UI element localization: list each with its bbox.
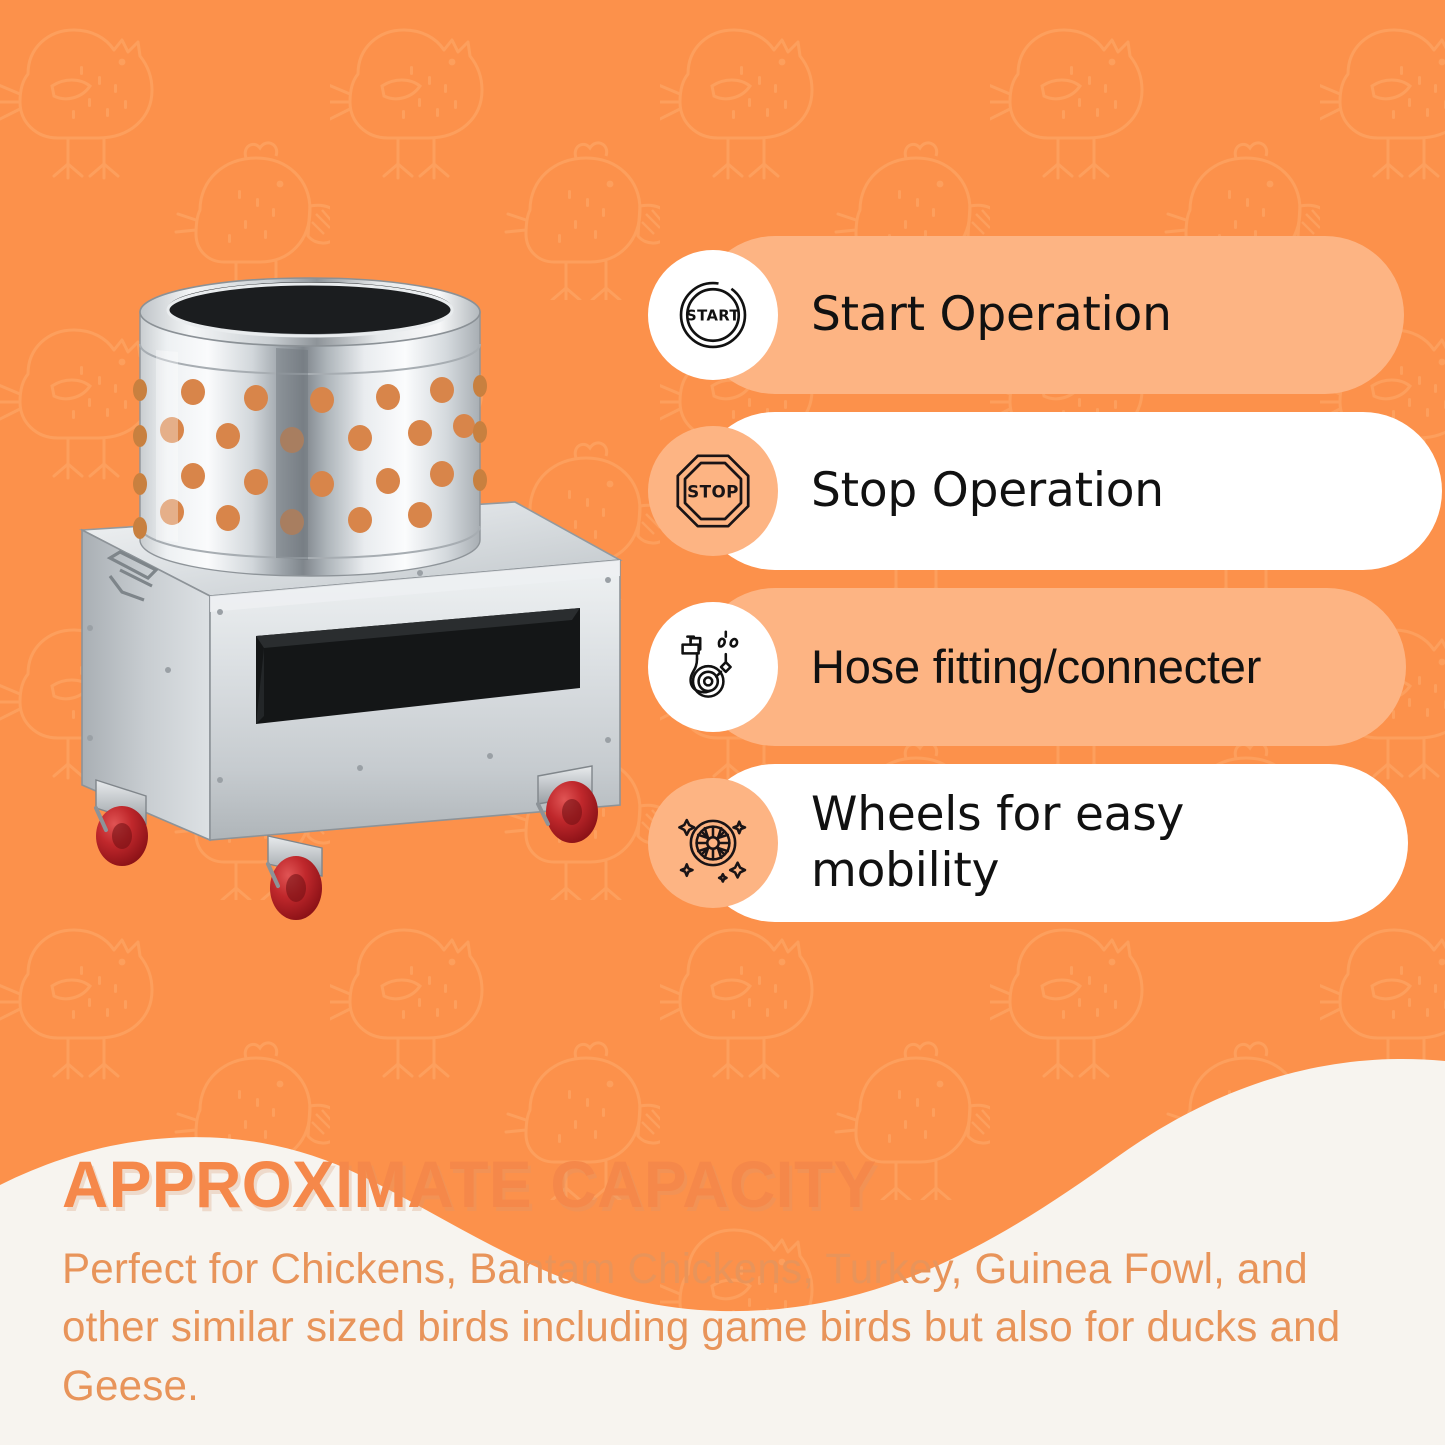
feature-row-start[interactable]: START Start Operation (648, 236, 1418, 394)
plucker-drum (133, 278, 487, 576)
capacity-section: APPROXIMATE CAPACITY Perfect for Chicken… (62, 1146, 1392, 1415)
svg-text:STOP: STOP (687, 481, 739, 501)
stop-icon: STOP (648, 426, 778, 556)
feature-list: START Start Operation STOP Stop Operatio… (648, 236, 1418, 940)
page-title: APPROXIMATE CAPACITY (62, 1146, 1352, 1222)
feature-label: Start Operation (811, 236, 1172, 394)
start-icon: START (648, 250, 778, 380)
product-image-chicken-plucker (60, 240, 640, 930)
feature-label: Wheels for easy mobility (811, 764, 1184, 922)
svg-text:START: START (686, 307, 740, 324)
wheel-sparkle-icon (648, 778, 778, 908)
hose-faucet-icon (648, 602, 778, 732)
feature-row-hose[interactable]: Hose fitting/connecter (648, 588, 1418, 746)
infographic-page: START Start Operation STOP Stop Operatio… (0, 0, 1445, 1445)
feature-row-stop[interactable]: STOP Stop Operation (648, 412, 1418, 570)
feature-label: Hose fitting/connecter (811, 588, 1261, 746)
feature-label: Stop Operation (811, 412, 1164, 570)
feature-row-wheels[interactable]: Wheels for easy mobility (648, 764, 1418, 922)
capacity-description: Perfect for Chickens, Bantam Chickens, T… (62, 1240, 1365, 1415)
